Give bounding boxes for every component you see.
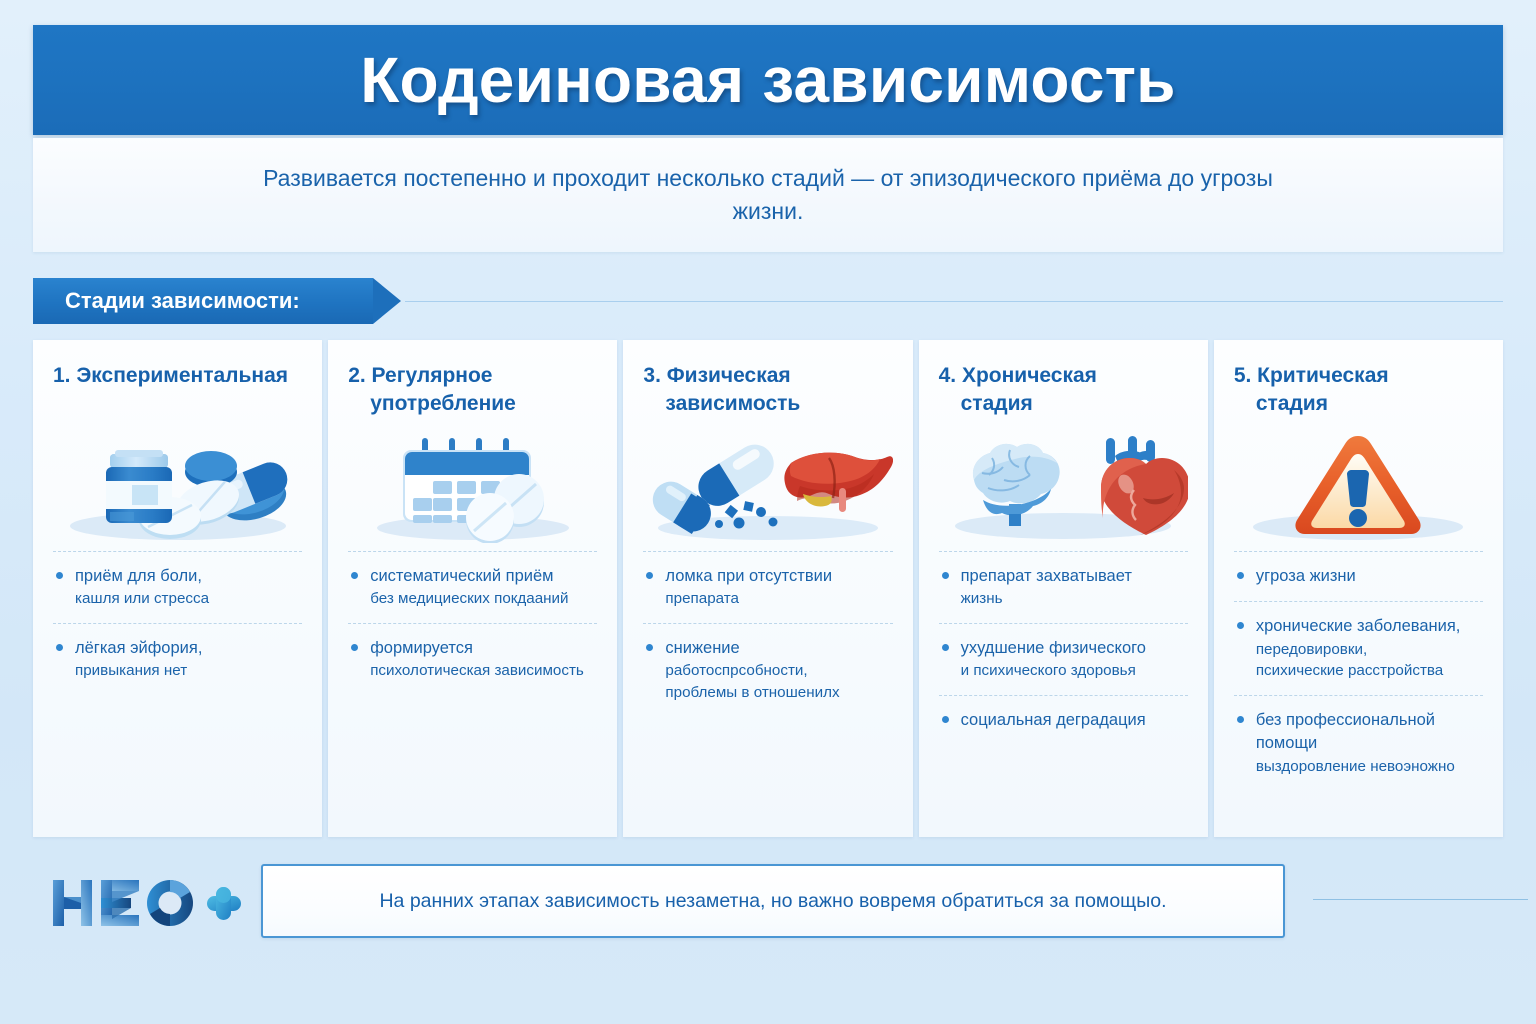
stage-card-4-bullets: препарат захватывает жизнь ухудшение физ… xyxy=(939,551,1188,745)
stage-card-2-bullets: систематический приём без медициеских по… xyxy=(348,551,597,695)
bullet-line-3: проблемы в отношенилх xyxy=(665,682,890,704)
list-item: социальная деградация xyxy=(939,696,1188,745)
stage-card-5-title-line1: 5. Критическая xyxy=(1234,364,1389,387)
section-banner-container: Стадии зависимости: xyxy=(33,278,1503,324)
bullet-line-1: приём для боли, xyxy=(75,567,202,585)
stage-card-5-title: 5. Критическая стадия xyxy=(1234,362,1483,424)
stage-cards-row: 1. Экспериментальная xyxy=(33,340,1503,837)
list-item: ухудшение физического и психического здо… xyxy=(939,624,1188,696)
stage-card-2-title-line2: употребление xyxy=(348,390,597,418)
bullet-line-1: ломка при отсутствии xyxy=(665,567,832,585)
stage-card-3[interactable]: 3. Физическая зависимость xyxy=(623,340,912,837)
warning-triangle-icon xyxy=(1234,428,1483,543)
list-item: угроза жизни xyxy=(1234,552,1483,602)
stage-card-4-title-line2: стадия xyxy=(939,390,1188,418)
section-banner-label: Стадии зависимости: xyxy=(65,288,300,314)
footer-note-box: На ранних этапах зависимость незаметна, … xyxy=(261,864,1285,938)
banner-horizontal-rule xyxy=(405,301,1503,302)
bullet-line-2: работоспрсобности, xyxy=(665,660,890,682)
bullet-line-1: угроза жизни xyxy=(1256,567,1356,585)
page-subtitle: Развивается постепенно и проходит нескол… xyxy=(258,162,1278,229)
infographic-page: Кодеиновая зависимость Развивается посте… xyxy=(0,0,1536,1024)
bullet-line-2: привыкания нет xyxy=(75,660,300,682)
stage-card-5-title-line2: стадия xyxy=(1234,390,1483,418)
list-item: приём для боли, кашля или стресса xyxy=(53,552,302,624)
stage-card-1-title-line1: 1. Экспериментальная xyxy=(53,364,288,387)
bullet-line-2: передовировки, xyxy=(1256,639,1481,661)
list-item: лёгкая эйфория, привыкания нет xyxy=(53,624,302,695)
bullet-line-2: психолотическая зависимость xyxy=(370,660,595,682)
footer-rule xyxy=(1313,899,1528,900)
section-banner: Стадии зависимости: xyxy=(33,278,373,324)
bullet-line-1: формируется xyxy=(370,639,473,657)
list-item: формируется психолотическая зависимость xyxy=(348,624,597,695)
neo-plus-logo[interactable] xyxy=(45,872,245,934)
bullet-line-2: препарата xyxy=(665,588,890,610)
bullet-line-1: социальная деградация xyxy=(961,711,1146,729)
stage-card-1-title: 1. Экспериментальная xyxy=(53,362,302,424)
stage-card-5-bullets: угроза жизни хронические заболевания, пе… xyxy=(1234,551,1483,790)
bullet-line-2: без медициеских покдааний xyxy=(370,588,595,610)
bullet-line-1: ухудшение физического xyxy=(961,639,1146,657)
stage-card-2[interactable]: 2. Регулярное употребление xyxy=(328,340,617,837)
stage-card-3-title-line1: 3. Физическая xyxy=(643,364,790,387)
list-item: хронические заболевания, передовировки, … xyxy=(1234,602,1483,696)
brain-and-heart-icon xyxy=(939,428,1188,543)
open-capsule-and-liver-icon xyxy=(643,428,892,543)
bullet-line-1: снижение xyxy=(665,639,739,657)
banner-arrow-shape xyxy=(373,278,401,324)
bullet-line-1: препарат захватывает xyxy=(961,567,1132,585)
page-title: Кодеиновая зависимость xyxy=(360,43,1175,117)
list-item: без профессиональной помощи выздоровлени… xyxy=(1234,696,1483,790)
list-item: ломка при отсутствии препарата xyxy=(643,552,892,624)
bullet-line-2: и психического здоровья xyxy=(961,660,1186,682)
stage-card-4-title-line1: 4. Хроническая xyxy=(939,364,1097,387)
bullet-line-2: кашля или стресса xyxy=(75,588,300,610)
bullet-line-1: хронические заболевания, xyxy=(1256,617,1461,635)
stage-card-2-title-line1: 2. Регулярное xyxy=(348,364,492,387)
title-band: Кодеиновая зависимость xyxy=(33,25,1503,135)
list-item: препарат захватывает жизнь xyxy=(939,552,1188,624)
pill-bottle-with-tablets-icon xyxy=(53,428,302,543)
stage-card-2-title: 2. Регулярное употребление xyxy=(348,362,597,424)
stage-card-4-title: 4. Хроническая стадия xyxy=(939,362,1188,424)
bullet-line-1: без профессиональной помощи xyxy=(1256,711,1435,752)
stage-card-3-title-line2: зависимость xyxy=(643,390,892,418)
bullet-line-1: лёгкая эйфория, xyxy=(75,639,202,657)
stage-card-5[interactable]: 5. Критическая стадия xyxy=(1214,340,1503,837)
bullet-line-2: жизнь xyxy=(961,588,1186,610)
stage-card-4[interactable]: 4. Хроническая стадия xyxy=(919,340,1208,837)
stage-card-3-bullets: ломка при отсутствии препарата снижение … xyxy=(643,551,892,717)
stage-card-1[interactable]: 1. Экспериментальная xyxy=(33,340,322,837)
subtitle-panel: Развивается постепенно и проходит нескол… xyxy=(33,138,1503,252)
bullet-line-3: психические расстройства xyxy=(1256,660,1481,682)
bullet-line-1: систематический приём xyxy=(370,567,553,585)
stage-card-1-bullets: приём для боли, кашля или стресса лёгкая… xyxy=(53,551,302,695)
calendar-with-pills-icon xyxy=(348,428,597,543)
bullet-line-2: выздоровление невоэножно xyxy=(1256,756,1481,778)
stage-card-3-title: 3. Физическая зависимость xyxy=(643,362,892,424)
list-item: снижение работоспрсобности, проблемы в о… xyxy=(643,624,892,717)
footer: На ранних этапах зависимость незаметна, … xyxy=(33,856,1503,952)
list-item: систематический приём без медициеских по… xyxy=(348,552,597,624)
footer-note-text: На ранних этапах зависимость незаметна, … xyxy=(379,890,1166,913)
